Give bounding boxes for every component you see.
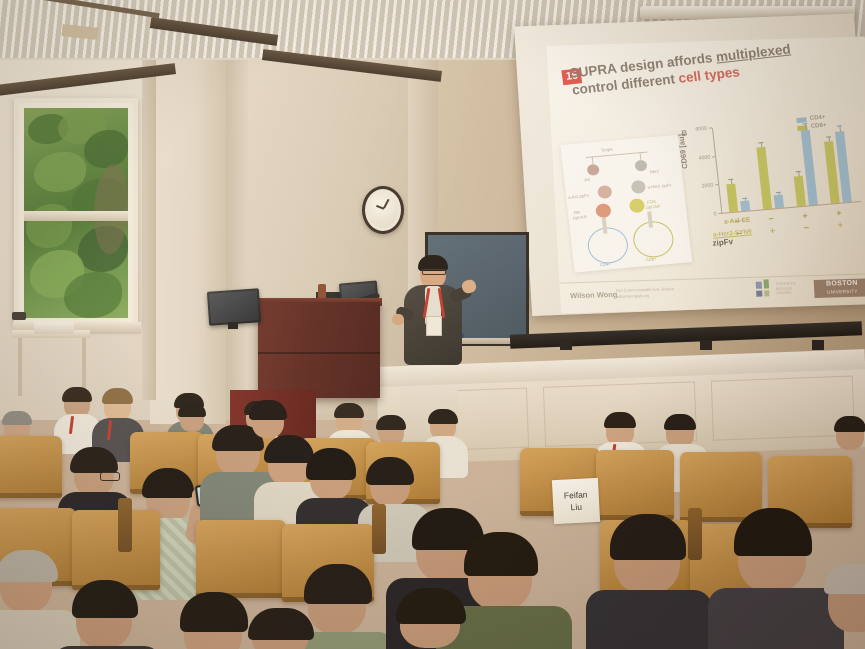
schematic-zipfv-right: a-Her2 zipFv xyxy=(647,183,671,190)
footer-presenter-name: Wilson Wong xyxy=(570,290,618,300)
condition-her2-value-1: − xyxy=(733,228,744,239)
seat-row2-3 xyxy=(196,520,286,598)
seat-armrest-3 xyxy=(688,508,702,560)
condition-axl-value-4: + xyxy=(833,207,844,218)
chart-zipfv-label: zipFv xyxy=(712,237,733,248)
screen-bracket-mid xyxy=(700,340,712,350)
lecture-hall-photo: 16 SUPRA design affords multiplexed cont… xyxy=(0,0,865,649)
bar-cd8-group3 xyxy=(794,176,806,207)
pillar-left-edge xyxy=(226,30,248,420)
schematic-cell-right-label: CD8+ xyxy=(645,256,656,262)
seat-row1-1 xyxy=(0,436,62,498)
screen-bracket-left xyxy=(560,340,572,350)
condition-her2-value-4: + xyxy=(835,219,846,230)
slide-footer: Wilson Wong 610 Commonwealth Ave. Boston… xyxy=(559,273,865,309)
sbc-line3: CENTER xyxy=(776,291,797,296)
glasses-icon xyxy=(100,472,120,481)
name-card-line1: Feifan xyxy=(564,488,588,501)
side-table-leg-left xyxy=(18,338,22,396)
sbc-logo-text: SYNTHETIC BIOLOGY CENTER xyxy=(776,282,797,296)
schematic-antigen-left: Axl xyxy=(584,177,590,182)
cd8-cell-circle xyxy=(631,220,675,259)
bar-cd8-group2 xyxy=(756,147,772,209)
presentation-slide: 16 SUPRA design affords multiplexed cont… xyxy=(547,37,865,314)
name-card-line2: Liu xyxy=(570,501,582,514)
podium-monitor-left-screen xyxy=(209,290,259,323)
bar-cd4-group2 xyxy=(774,195,784,209)
bar-cd8-group1 xyxy=(726,184,738,213)
cell-schematic-panel: Target Axl Her2 a-Axl zipFv a-Her2 zipFv… xyxy=(560,135,692,273)
pillar-left xyxy=(150,24,226,424)
podium-monitor-left-stand xyxy=(228,322,238,329)
podium-monitor-left xyxy=(207,288,261,326)
reserved-seat-name-card: Feifan Liu xyxy=(552,478,600,524)
schematic-zipcar-left-line2: zipCAR xyxy=(572,214,587,220)
body xyxy=(586,590,712,649)
window xyxy=(14,98,138,328)
footer-address-line2: wilsonwonglab.org xyxy=(616,292,674,299)
chart-ytick-2000: 2000 xyxy=(696,183,714,190)
body xyxy=(708,588,844,649)
clock-face xyxy=(368,192,398,228)
chart-plot-area: 0 2000 4000 6000 xyxy=(712,116,861,214)
bu-logo-line2: UNIVERSITY xyxy=(814,287,865,296)
speaker-glasses xyxy=(422,269,446,275)
body xyxy=(0,610,80,649)
left-wall-corner xyxy=(142,0,156,400)
screen-surface: 16 SUPRA design affords multiplexed cont… xyxy=(514,14,865,316)
boston-university-logo: BOSTON UNIVERSITY xyxy=(814,278,865,298)
condition-her2-value-3: − xyxy=(801,222,812,233)
condition-her2-value-2: + xyxy=(767,225,778,236)
seat-armrest-2 xyxy=(372,504,386,554)
condition-axl-value-2: − xyxy=(766,213,777,224)
condition-axl-value-3: + xyxy=(800,210,811,221)
schematic-cell-left-label: CD4+ xyxy=(600,261,611,267)
schematic-zipcar-right-line2: zipCAR xyxy=(645,204,660,210)
wall-clock xyxy=(362,186,404,234)
seat-armrest-1 xyxy=(118,498,132,552)
chart-ytick-0: 0 xyxy=(699,211,717,218)
side-table-equipment xyxy=(34,322,74,334)
chart-y-axis xyxy=(712,128,722,214)
chart-ytick-4000: 4000 xyxy=(693,154,711,161)
screen-bracket-right xyxy=(812,340,824,350)
schematic-target-label: Target xyxy=(601,147,613,153)
schematic-antigen-right: Her2 xyxy=(649,169,659,175)
chart-ytick-6000: 6000 xyxy=(690,126,708,133)
footer-address: 610 Commonwealth Ave. Boston wilsonwongl… xyxy=(616,286,675,299)
speaker-podium xyxy=(258,302,380,398)
cd4-cell-circle xyxy=(586,226,630,265)
stage-panel-3 xyxy=(711,376,855,441)
condition-axl-value-1: − xyxy=(732,216,743,227)
wall-mounted-device xyxy=(12,312,26,320)
schematic-zipfv-left: a-Axl zipFv xyxy=(568,193,589,200)
seat-row2-2 xyxy=(72,510,160,590)
slide-title-line1-underlined: multiplexed xyxy=(715,41,791,64)
seat-row1-7 xyxy=(596,450,674,520)
bar-cd4-group1 xyxy=(740,200,750,211)
speaker-badge xyxy=(426,316,442,336)
podium-panel-seam xyxy=(258,352,380,354)
window-sash-rail xyxy=(24,211,128,221)
speaker-hand-left xyxy=(392,314,404,325)
cd69-bar-chart: B CD69 [au] CD4+ CD8+ xyxy=(678,110,865,257)
projection-screen: 16 SUPRA design affords multiplexed cont… xyxy=(495,1,865,324)
slide-title: SUPRA design affords multiplexed control… xyxy=(569,37,857,99)
